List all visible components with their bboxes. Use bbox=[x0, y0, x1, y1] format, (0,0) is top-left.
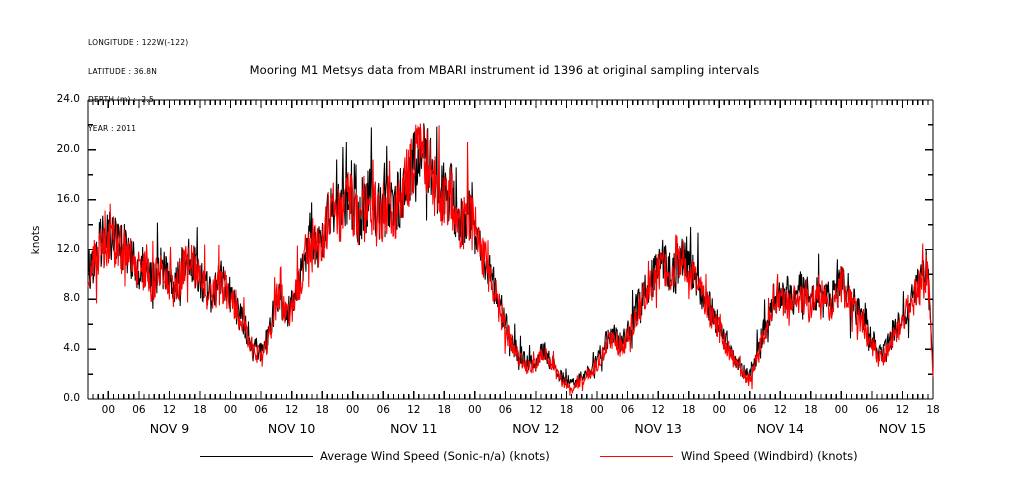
x-tick-label: 00 bbox=[826, 404, 856, 416]
x-tick-label: 00 bbox=[582, 404, 612, 416]
x-tick-label: 06 bbox=[857, 404, 887, 416]
x-tick-label: 00 bbox=[460, 404, 490, 416]
x-day-label: NOV 15 bbox=[842, 421, 962, 436]
x-day-label: NOV 12 bbox=[476, 421, 596, 436]
x-tick-label: 00 bbox=[216, 404, 246, 416]
x-tick-label: 06 bbox=[368, 404, 398, 416]
x-tick-label: 18 bbox=[307, 404, 337, 416]
x-tick-label: 12 bbox=[765, 404, 795, 416]
x-day-label: NOV 11 bbox=[354, 421, 474, 436]
x-tick-label: 06 bbox=[613, 404, 643, 416]
x-tick-label: 00 bbox=[338, 404, 368, 416]
series-line-sonic bbox=[88, 123, 933, 387]
x-tick-label: 00 bbox=[704, 404, 734, 416]
legend-color-swatch bbox=[600, 456, 673, 457]
x-tick-label: 18 bbox=[429, 404, 459, 416]
x-day-label: NOV 10 bbox=[232, 421, 352, 436]
legend-label: Average Wind Speed (Sonic-n/a) (knots) bbox=[320, 449, 550, 463]
x-day-label: NOV 9 bbox=[109, 421, 229, 436]
legend-label: Wind Speed (Windbird) (knots) bbox=[681, 449, 858, 463]
x-tick-label: 12 bbox=[521, 404, 551, 416]
y-tick-label: 20.0 bbox=[36, 143, 80, 155]
x-tick-label: 06 bbox=[124, 404, 154, 416]
x-tick-label: 18 bbox=[918, 404, 948, 416]
x-tick-label: 12 bbox=[643, 404, 673, 416]
x-tick-label: 12 bbox=[154, 404, 184, 416]
y-tick-label: 24.0 bbox=[36, 93, 80, 105]
x-tick-label: 06 bbox=[246, 404, 276, 416]
x-tick-label: 06 bbox=[735, 404, 765, 416]
chart-legend: Average Wind Speed (Sonic-n/a) (knots)Wi… bbox=[0, 447, 1009, 469]
axis-layer bbox=[88, 100, 933, 399]
chart-figure: LONGITUDE : 122W(-122) LATITUDE : 36.8N … bbox=[0, 0, 1009, 504]
y-tick-label: 8.0 bbox=[36, 292, 80, 304]
series-line-windbird bbox=[88, 124, 933, 396]
x-tick-label: 18 bbox=[185, 404, 215, 416]
x-tick-label: 18 bbox=[551, 404, 581, 416]
y-tick-label: 4.0 bbox=[36, 342, 80, 354]
y-tick-label: 12.0 bbox=[36, 243, 80, 255]
y-tick-label: 0.0 bbox=[36, 392, 80, 404]
x-tick-label: 12 bbox=[277, 404, 307, 416]
legend-color-swatch bbox=[200, 456, 313, 457]
x-tick-label: 00 bbox=[93, 404, 123, 416]
y-tick-label: 16.0 bbox=[36, 193, 80, 205]
x-day-label: NOV 14 bbox=[720, 421, 840, 436]
x-tick-label: 06 bbox=[490, 404, 520, 416]
series-layer bbox=[88, 123, 933, 395]
x-tick-label: 18 bbox=[796, 404, 826, 416]
x-day-label: NOV 13 bbox=[598, 421, 718, 436]
x-tick-label: 12 bbox=[887, 404, 917, 416]
x-tick-label: 18 bbox=[674, 404, 704, 416]
x-tick-label: 12 bbox=[399, 404, 429, 416]
